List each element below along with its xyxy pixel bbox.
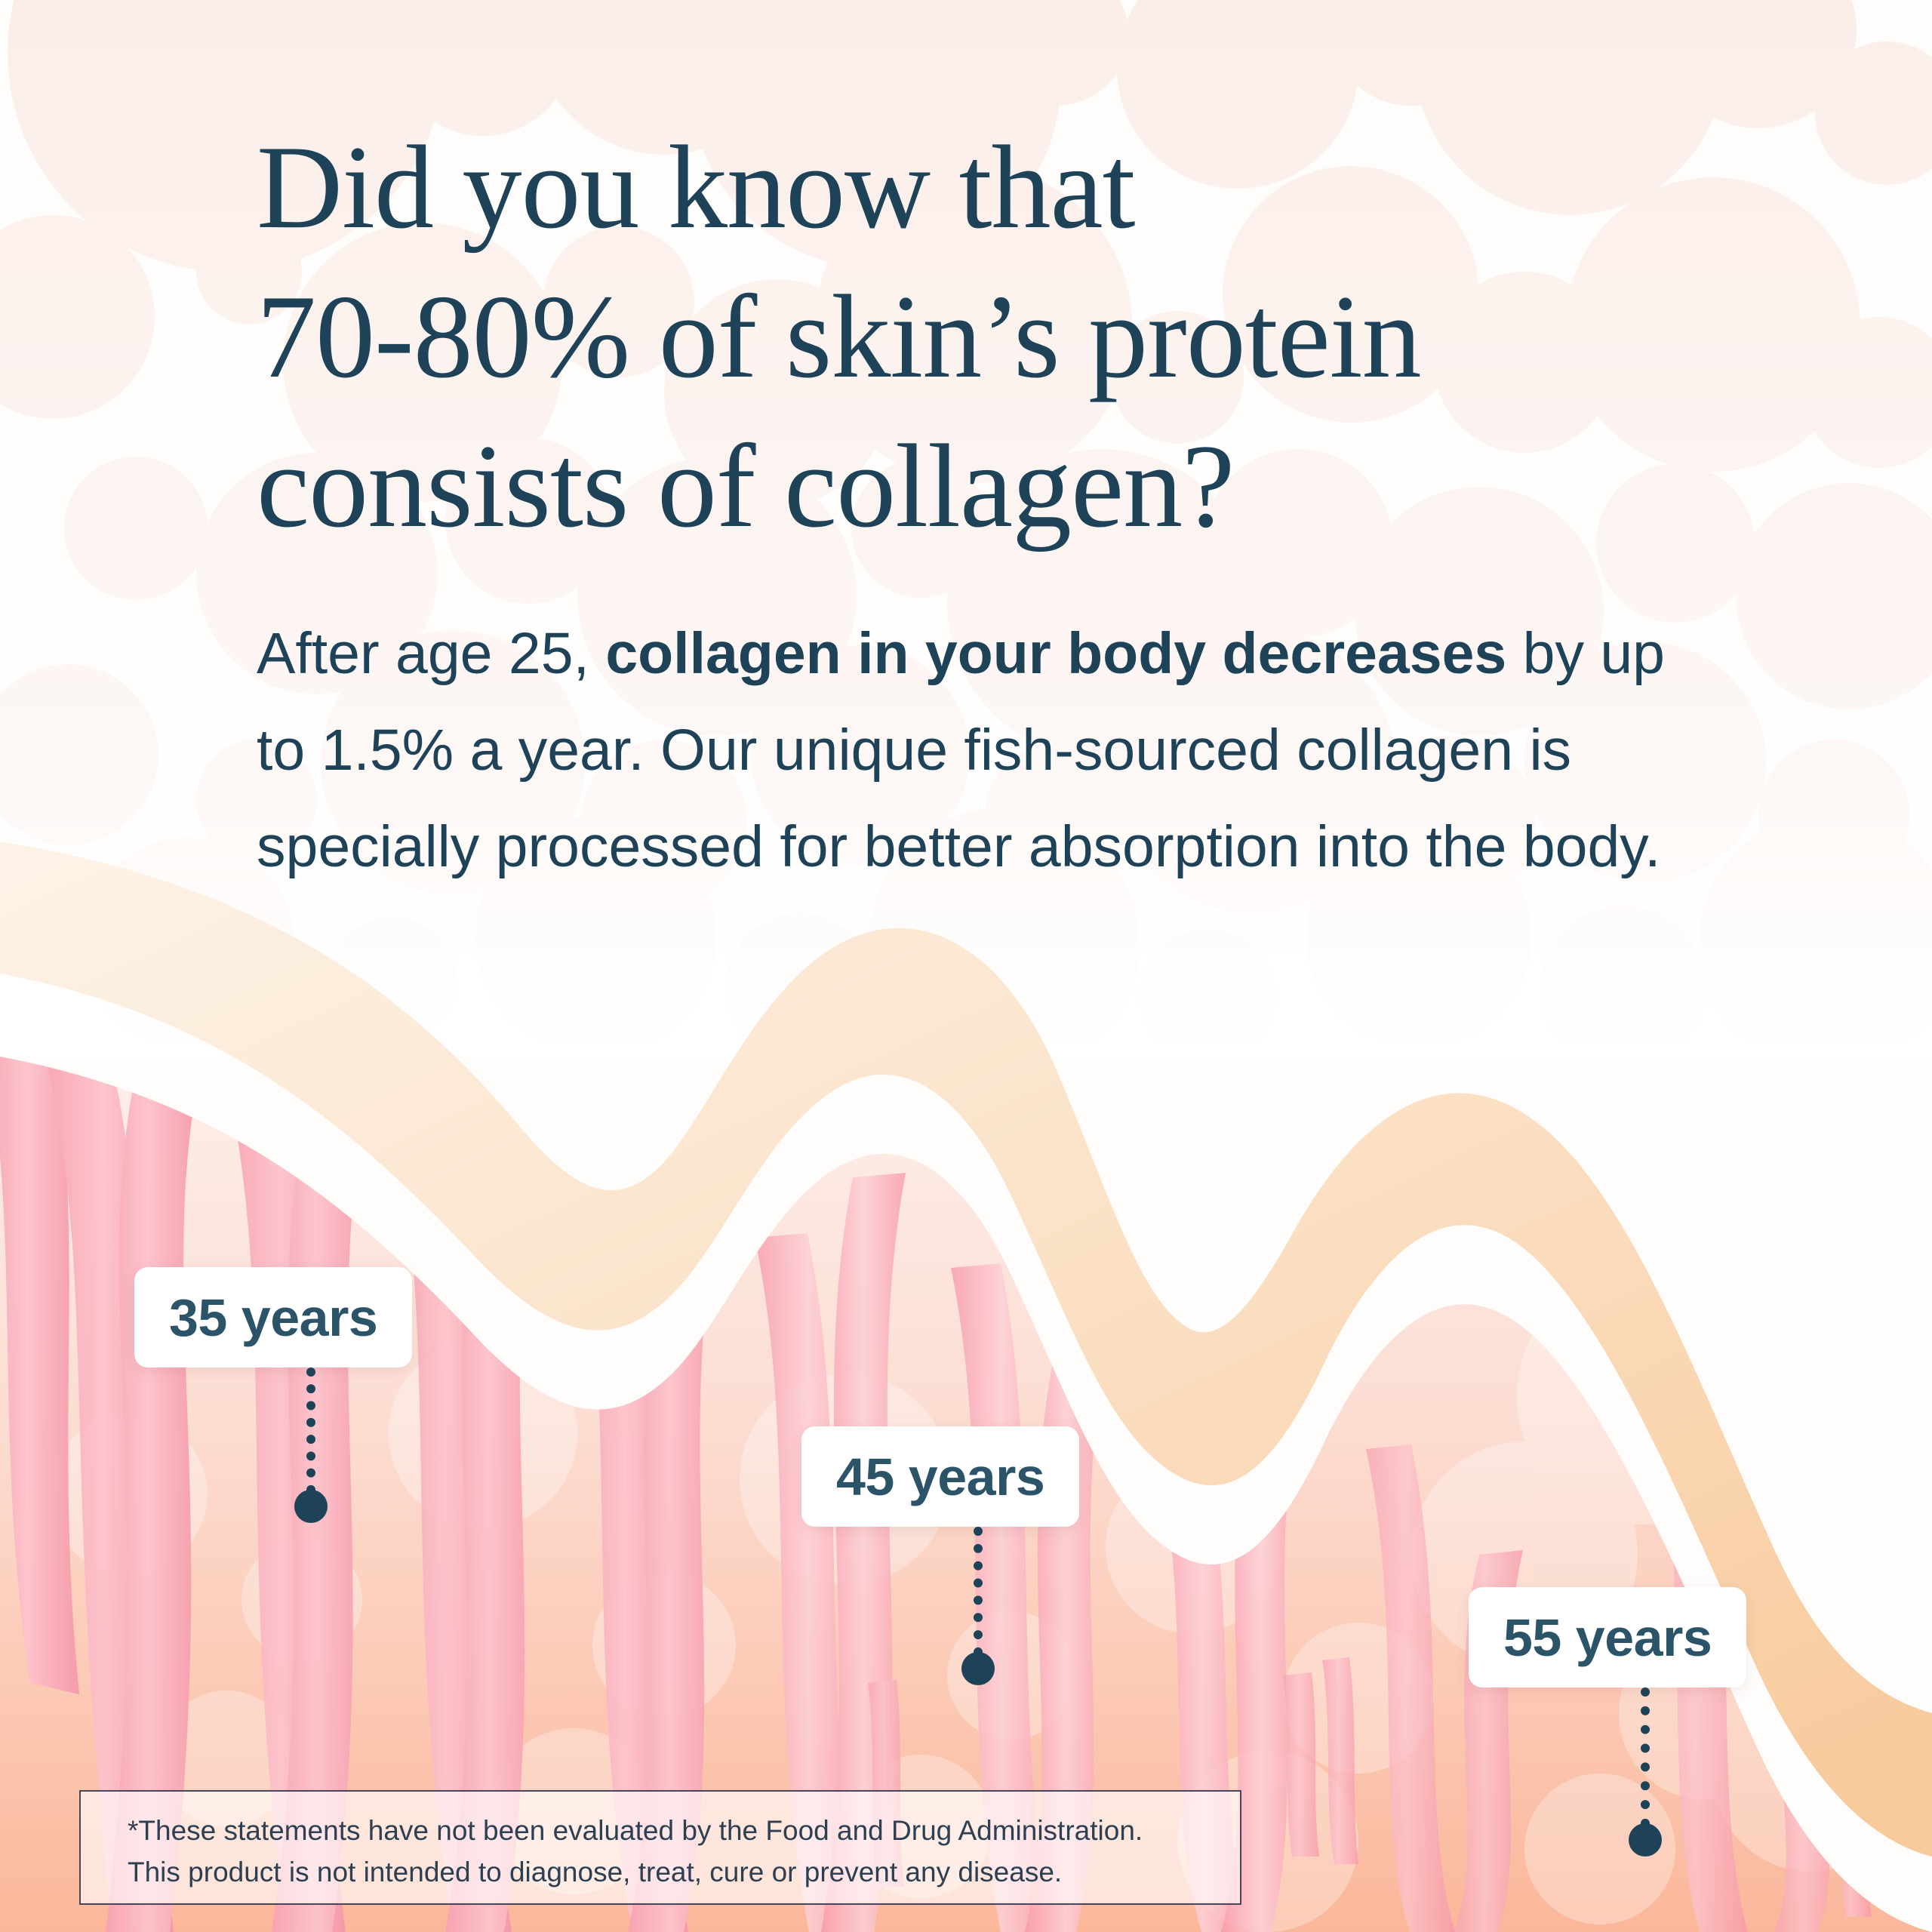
- callout-box[interactable]: 45 years: [801, 1426, 1079, 1527]
- page-title: Did you know that 70-80% of skin’s prote…: [257, 113, 1811, 561]
- callout-35-years[interactable]: 35 years: [134, 1267, 412, 1367]
- callout-leader-line: [1641, 1687, 1650, 1828]
- callout-leader-line: [974, 1527, 983, 1657]
- callout-endpoint-dot: [1629, 1823, 1662, 1857]
- callout-box[interactable]: 35 years: [134, 1267, 412, 1367]
- disclaimer-box: *These statements have not been evaluate…: [79, 1790, 1241, 1905]
- disclaimer-text: *These statements have not been evaluate…: [128, 1810, 1240, 1893]
- callout-55-years[interactable]: 55 years: [1469, 1587, 1746, 1687]
- infographic-canvas: Did you know that 70-80% of skin’s prote…: [0, 0, 1932, 1932]
- text-content-block: Did you know that 70-80% of skin’s prote…: [257, 113, 1811, 895]
- callout-endpoint-dot: [961, 1652, 995, 1685]
- subcopy-bold-1: collagen in your body decreases: [605, 621, 1506, 686]
- callout-label: 45 years: [836, 1447, 1044, 1507]
- callout-box[interactable]: 55 years: [1469, 1587, 1746, 1687]
- callout-leader-line: [306, 1367, 315, 1494]
- callout-label: 55 years: [1503, 1607, 1712, 1668]
- body-paragraph: After age 25, collagen in your body decr…: [257, 605, 1713, 895]
- callout-45-years[interactable]: 45 years: [801, 1426, 1079, 1527]
- callout-endpoint-dot: [294, 1490, 328, 1523]
- subcopy-part-1: After age 25,: [257, 621, 605, 686]
- callout-label: 35 years: [169, 1287, 377, 1348]
